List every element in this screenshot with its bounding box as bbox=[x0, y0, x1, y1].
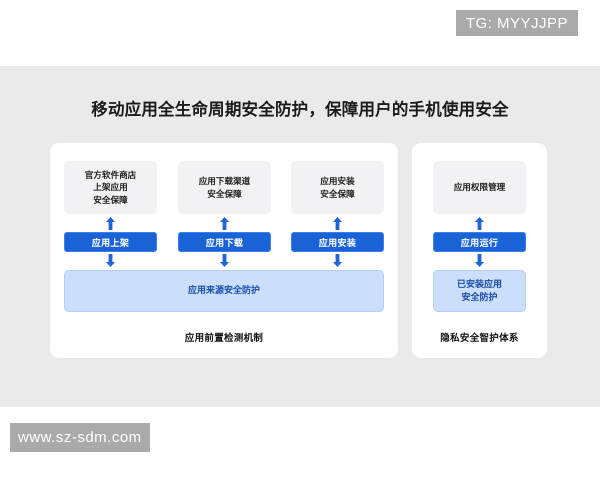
arrow-down-icon bbox=[219, 254, 230, 267]
grey-box-install: 应用安装安全保障 bbox=[291, 161, 384, 214]
grey-box-download-channel: 应用下载渠道安全保障 bbox=[178, 161, 271, 214]
watermark-bottom-text: www.sz-sdm.com bbox=[18, 429, 142, 446]
diagram-stage: 移动应用全生命周期安全防护，保障用户的手机使用安全 官方软件商店上架应用安全保障… bbox=[0, 66, 600, 407]
card-caption-privacy: 隐私安全智护体系 bbox=[412, 330, 547, 344]
watermark-bottom: www.sz-sdm.com bbox=[10, 423, 150, 452]
grey-box-permission-management: 应用权限管理 bbox=[433, 161, 526, 214]
stage-button-app-runtime[interactable]: 应用运行 bbox=[433, 232, 526, 252]
arrow-down-icon bbox=[474, 254, 485, 267]
arrow-down-icon bbox=[332, 254, 343, 267]
page-title: 移动应用全生命周期安全防护，保障用户的手机使用安全 bbox=[0, 96, 600, 120]
stage-button-app-install[interactable]: 应用安装 bbox=[291, 232, 384, 252]
arrow-down-icon bbox=[105, 254, 116, 267]
arrow-up-icon bbox=[105, 217, 116, 230]
card-pre-install: 官方软件商店上架应用安全保障 应用下载渠道安全保障 应用安装安全保障 应用上架 … bbox=[50, 143, 398, 358]
band-installed-app-protection: 已安装应用安全防护 bbox=[433, 270, 526, 312]
card-caption-pre-install: 应用前置检测机制 bbox=[50, 330, 398, 344]
arrow-up-icon bbox=[219, 217, 230, 230]
watermark-top-text: TG: MYYJJPP bbox=[466, 15, 568, 32]
arrow-up-icon bbox=[332, 217, 343, 230]
watermark-top: TG: MYYJJPP bbox=[456, 10, 578, 36]
card-privacy-protection: 应用权限管理 应用运行 已安装应用安全防护 隐私安全智护体系 bbox=[412, 143, 547, 358]
arrow-up-icon bbox=[474, 217, 485, 230]
stage-button-app-download[interactable]: 应用下载 bbox=[178, 232, 271, 252]
grey-box-app-store: 官方软件商店上架应用安全保障 bbox=[64, 161, 157, 214]
band-app-source-protection: 应用来源安全防护 bbox=[64, 270, 384, 312]
stage-button-app-listing[interactable]: 应用上架 bbox=[64, 232, 157, 252]
